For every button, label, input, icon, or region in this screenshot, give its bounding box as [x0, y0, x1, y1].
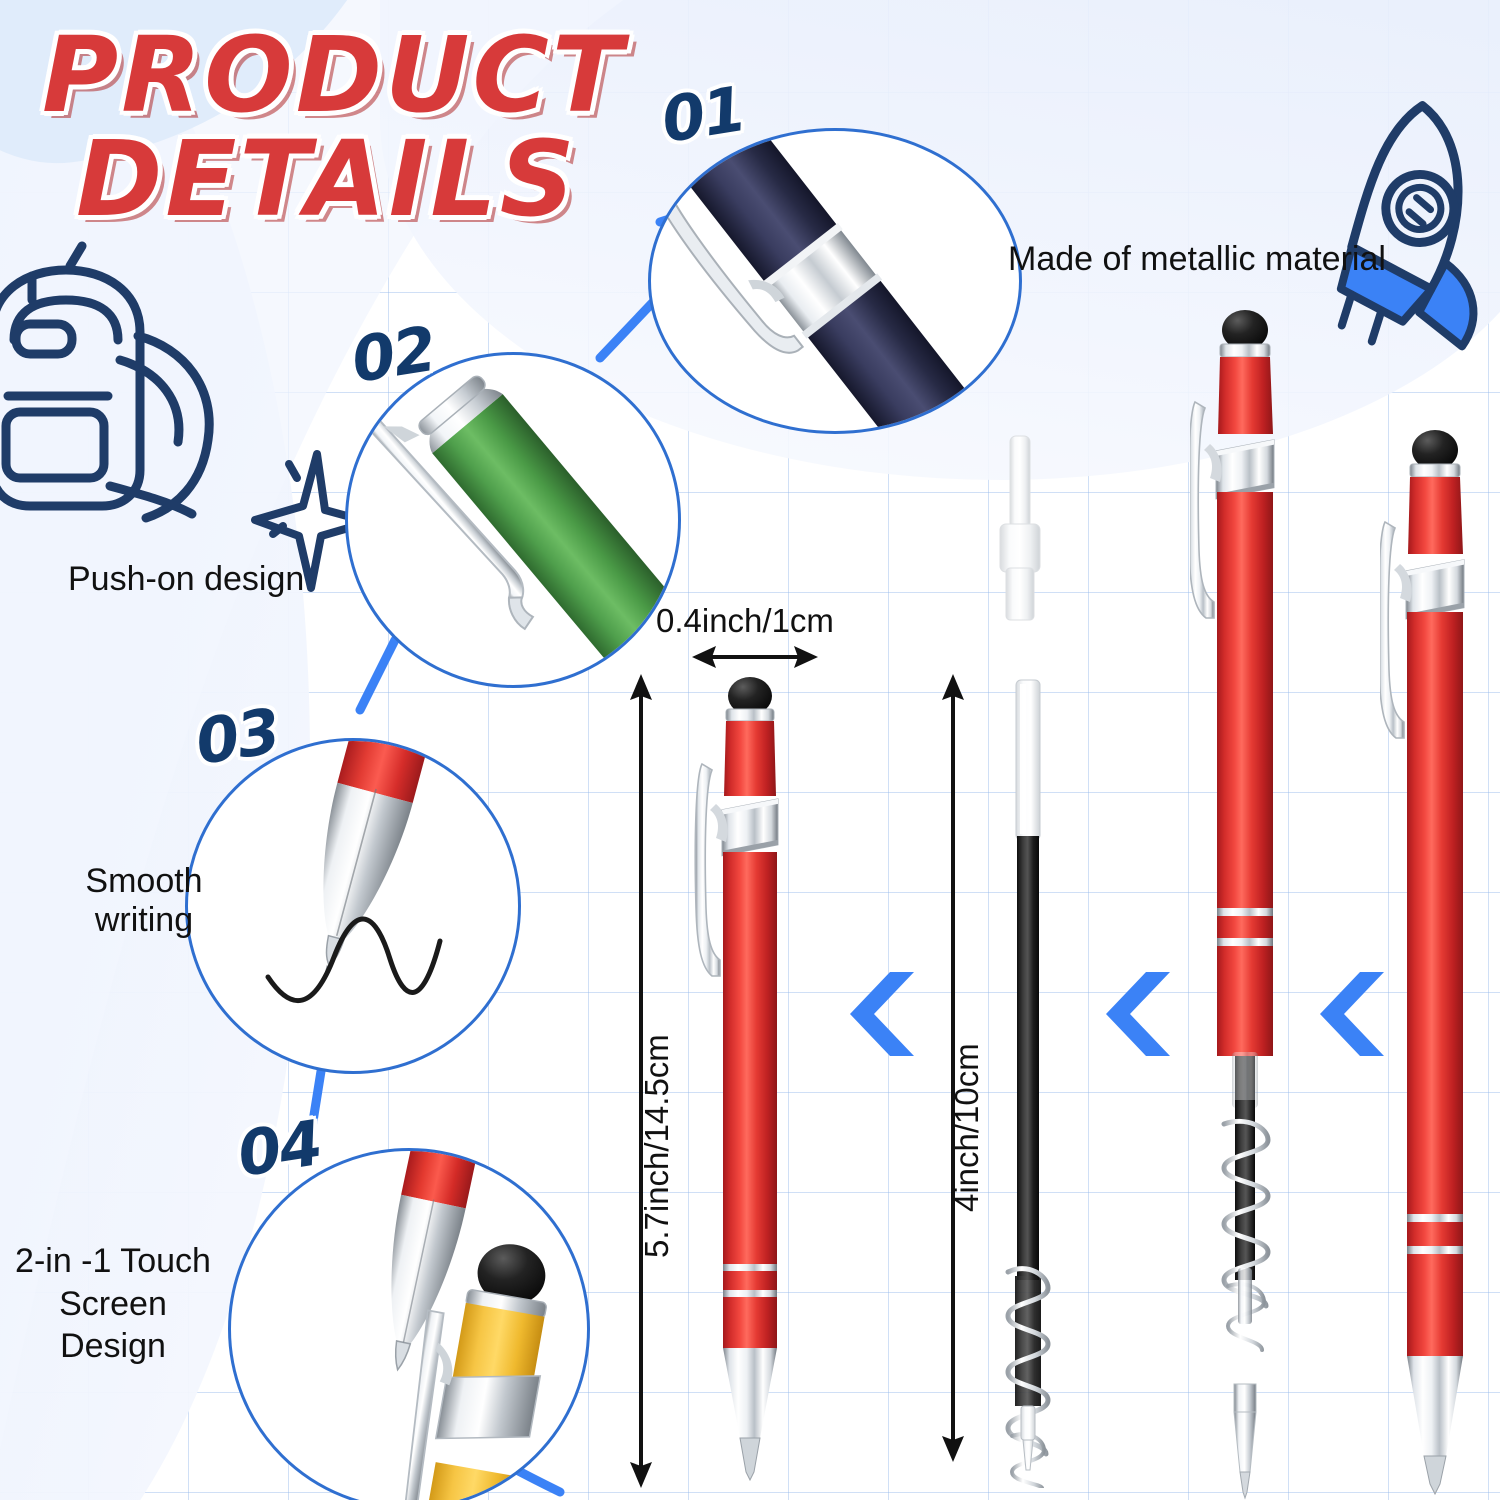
title-line-2: DETAILS: [76, 130, 626, 230]
pen-exploded-lower: [1190, 1100, 1300, 1500]
plunger-component: [992, 432, 1048, 622]
pen-exploded-upper-art: [1190, 308, 1300, 1108]
touch-screen-detail: [231, 1151, 587, 1500]
callout-badge-04: 04: [233, 1106, 326, 1191]
pen-assembled-left: [690, 676, 810, 1484]
callout-label-01: Made of metallic material: [1008, 240, 1386, 279]
green-pen-detail: [348, 355, 678, 685]
page-title: PRODUCT DETAILS: [42, 26, 626, 230]
dimension-label-width: 0.4inch/1cm: [656, 602, 834, 640]
pen-assembled-left-art: [690, 676, 810, 1484]
callout-badge-03: 03: [191, 694, 284, 779]
dimension-label-pen-length: 5.7inch/14.5cm: [638, 1034, 676, 1258]
callout-circle-01: [648, 128, 1022, 434]
width-arrow: [690, 640, 820, 674]
dimension-label-refill-length: 4inch/10cm: [948, 1043, 986, 1212]
navy-pen-detail: [651, 131, 1019, 431]
chevron-left-icon-3: [1296, 968, 1392, 1060]
callout-circle-04: [228, 1148, 590, 1500]
callout-circle-02: [345, 352, 681, 688]
title-line-1: PRODUCT: [42, 26, 626, 126]
callout-label-04: 2-in -1 Touch Screen Design: [0, 1240, 226, 1368]
chevron-left-icon-1: [826, 968, 922, 1060]
callout-badge-01: 01: [657, 72, 750, 157]
callout-badge-02: 02: [347, 312, 440, 397]
callout-label-03: Smooth writing: [44, 862, 244, 941]
callout-label-02: Push-on design: [68, 560, 304, 599]
refill-component: [996, 676, 1060, 1488]
pen-exploded-upper: [1190, 308, 1300, 1108]
plunger-art: [992, 432, 1048, 622]
infographic-canvas: PRODUCT DETAILS 01: [0, 0, 1500, 1500]
pen-assembled-right-art: [1380, 428, 1490, 1496]
refill-art: [996, 676, 1060, 1488]
pen-exploded-lower-art: [1190, 1100, 1300, 1500]
pen-assembled-right: [1380, 428, 1490, 1496]
chevron-left-icon-2: [1082, 968, 1178, 1060]
